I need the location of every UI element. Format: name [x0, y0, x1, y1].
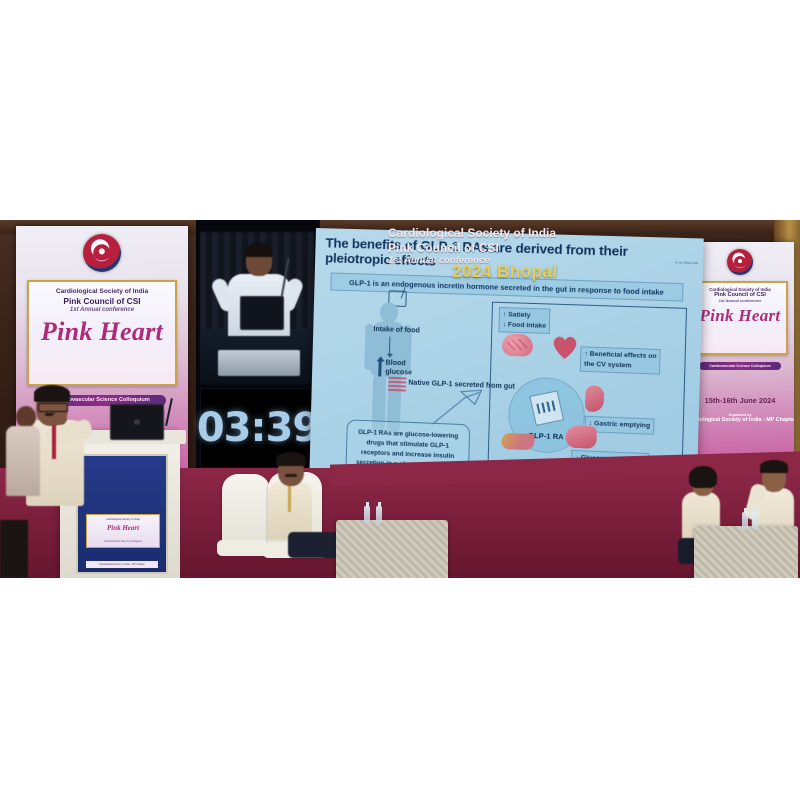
organised-by-label: Organised by [686, 413, 794, 417]
banner-card: Cardiological Society of India Pink Coun… [27, 280, 177, 386]
feed-podium [218, 350, 300, 376]
banner-right-ribbon: Cardiovascular Science Colloquium [699, 362, 781, 370]
podium-footer-band: Cardiological Society of India - MP Chap… [86, 561, 158, 568]
feed-laptop [240, 296, 284, 330]
heart-icon [551, 333, 579, 360]
label-blood-glucose: Bloodglucose [385, 359, 412, 379]
conference-photograph: Cardiological Society of India Pink Coun… [0, 220, 800, 578]
organiser-name: Cardiological Society of India - MP Chap… [686, 417, 794, 424]
water-bottle-2 [376, 506, 382, 524]
attendee-body [6, 426, 40, 496]
effect-label-cv-system: ↑ Beneficial effects onthe CV system [580, 346, 661, 375]
intestine-icon [388, 377, 407, 394]
plaque-brand: Pink Heart [87, 524, 159, 532]
stage-line1: Cardiological Society of India [388, 226, 556, 241]
up-arrow-blood-glucose [378, 360, 381, 376]
effect-label-satiety: ↑ Satiety↓ Food intake [498, 307, 550, 334]
banner-right-date: 15th-16th June 2024 [686, 396, 794, 405]
stage-line2: Pink Council of CSI [388, 241, 556, 256]
banner-right-brand: Pink Heart [694, 306, 786, 326]
feed-speaker-hair [245, 243, 273, 257]
banner-organiser-block: Organised by Cardiological Society of In… [686, 413, 794, 424]
slide-corner-note: 8 min Read Call [675, 260, 698, 265]
plaque-footer-text: Cardiological Society of India - MP Chap… [86, 561, 158, 568]
banner-right-line3: 1st Annual conference [694, 298, 786, 303]
plaque-sub: Cardiovascular Science Colloquium [87, 540, 159, 543]
podium-front-panel: Cardiological Society of India Pink Hear… [76, 454, 168, 574]
banner-brand: Pink Heart [29, 317, 175, 347]
liver-icon [565, 425, 597, 449]
stage-backdrop-title: Cardiological Society of India Pink Coun… [388, 226, 556, 267]
speaker-video-feed [200, 232, 314, 384]
speaker-red-lanyard [52, 425, 56, 459]
banner-card-right: Cardiological Society of India Pink Coun… [692, 281, 788, 355]
podium-laptop [110, 404, 164, 440]
podium-plaque: Cardiological Society of India Pink Hear… [86, 514, 160, 548]
timer-value: 03:39 [197, 405, 319, 451]
pancreas-icon [501, 433, 534, 451]
photo-page: Cardiological Society of India Pink Coun… [0, 0, 800, 800]
speaker-hand [52, 412, 67, 425]
water-bottle-3 [742, 512, 748, 530]
speaker-hair [34, 385, 70, 402]
panelist-lanyard [288, 486, 291, 512]
water-bottle-1 [364, 506, 370, 524]
panel-table-right [694, 526, 798, 578]
speaker-glasses [38, 403, 68, 412]
silhouette-head [380, 302, 399, 323]
stomach-icon [585, 385, 604, 412]
foreground-silhouette-left [0, 520, 28, 578]
water-bottle-4 [752, 512, 758, 530]
attendee-head [16, 406, 36, 428]
panelist-moustache [285, 474, 297, 477]
panelist-r1-hair [689, 466, 717, 488]
plaque-top-text: Cardiological Society of India [87, 518, 159, 521]
brain-icon [502, 333, 533, 356]
chair-center-left [222, 474, 270, 554]
stage-location-year: 2024 Bhopal [452, 262, 558, 282]
panelist-r2-hair [760, 460, 788, 473]
panel-table-center [336, 520, 448, 578]
banner-line1: Cardiological Society of India [29, 288, 175, 295]
banner-line3: 1st Annual conference [29, 307, 175, 313]
csi-logo-icon-right [727, 249, 753, 275]
banner-line2: Pink Council of CSI [29, 296, 175, 306]
glp1-pill-icon [529, 390, 564, 426]
panelist-hair [276, 452, 306, 466]
csi-logo-icon [83, 234, 121, 272]
